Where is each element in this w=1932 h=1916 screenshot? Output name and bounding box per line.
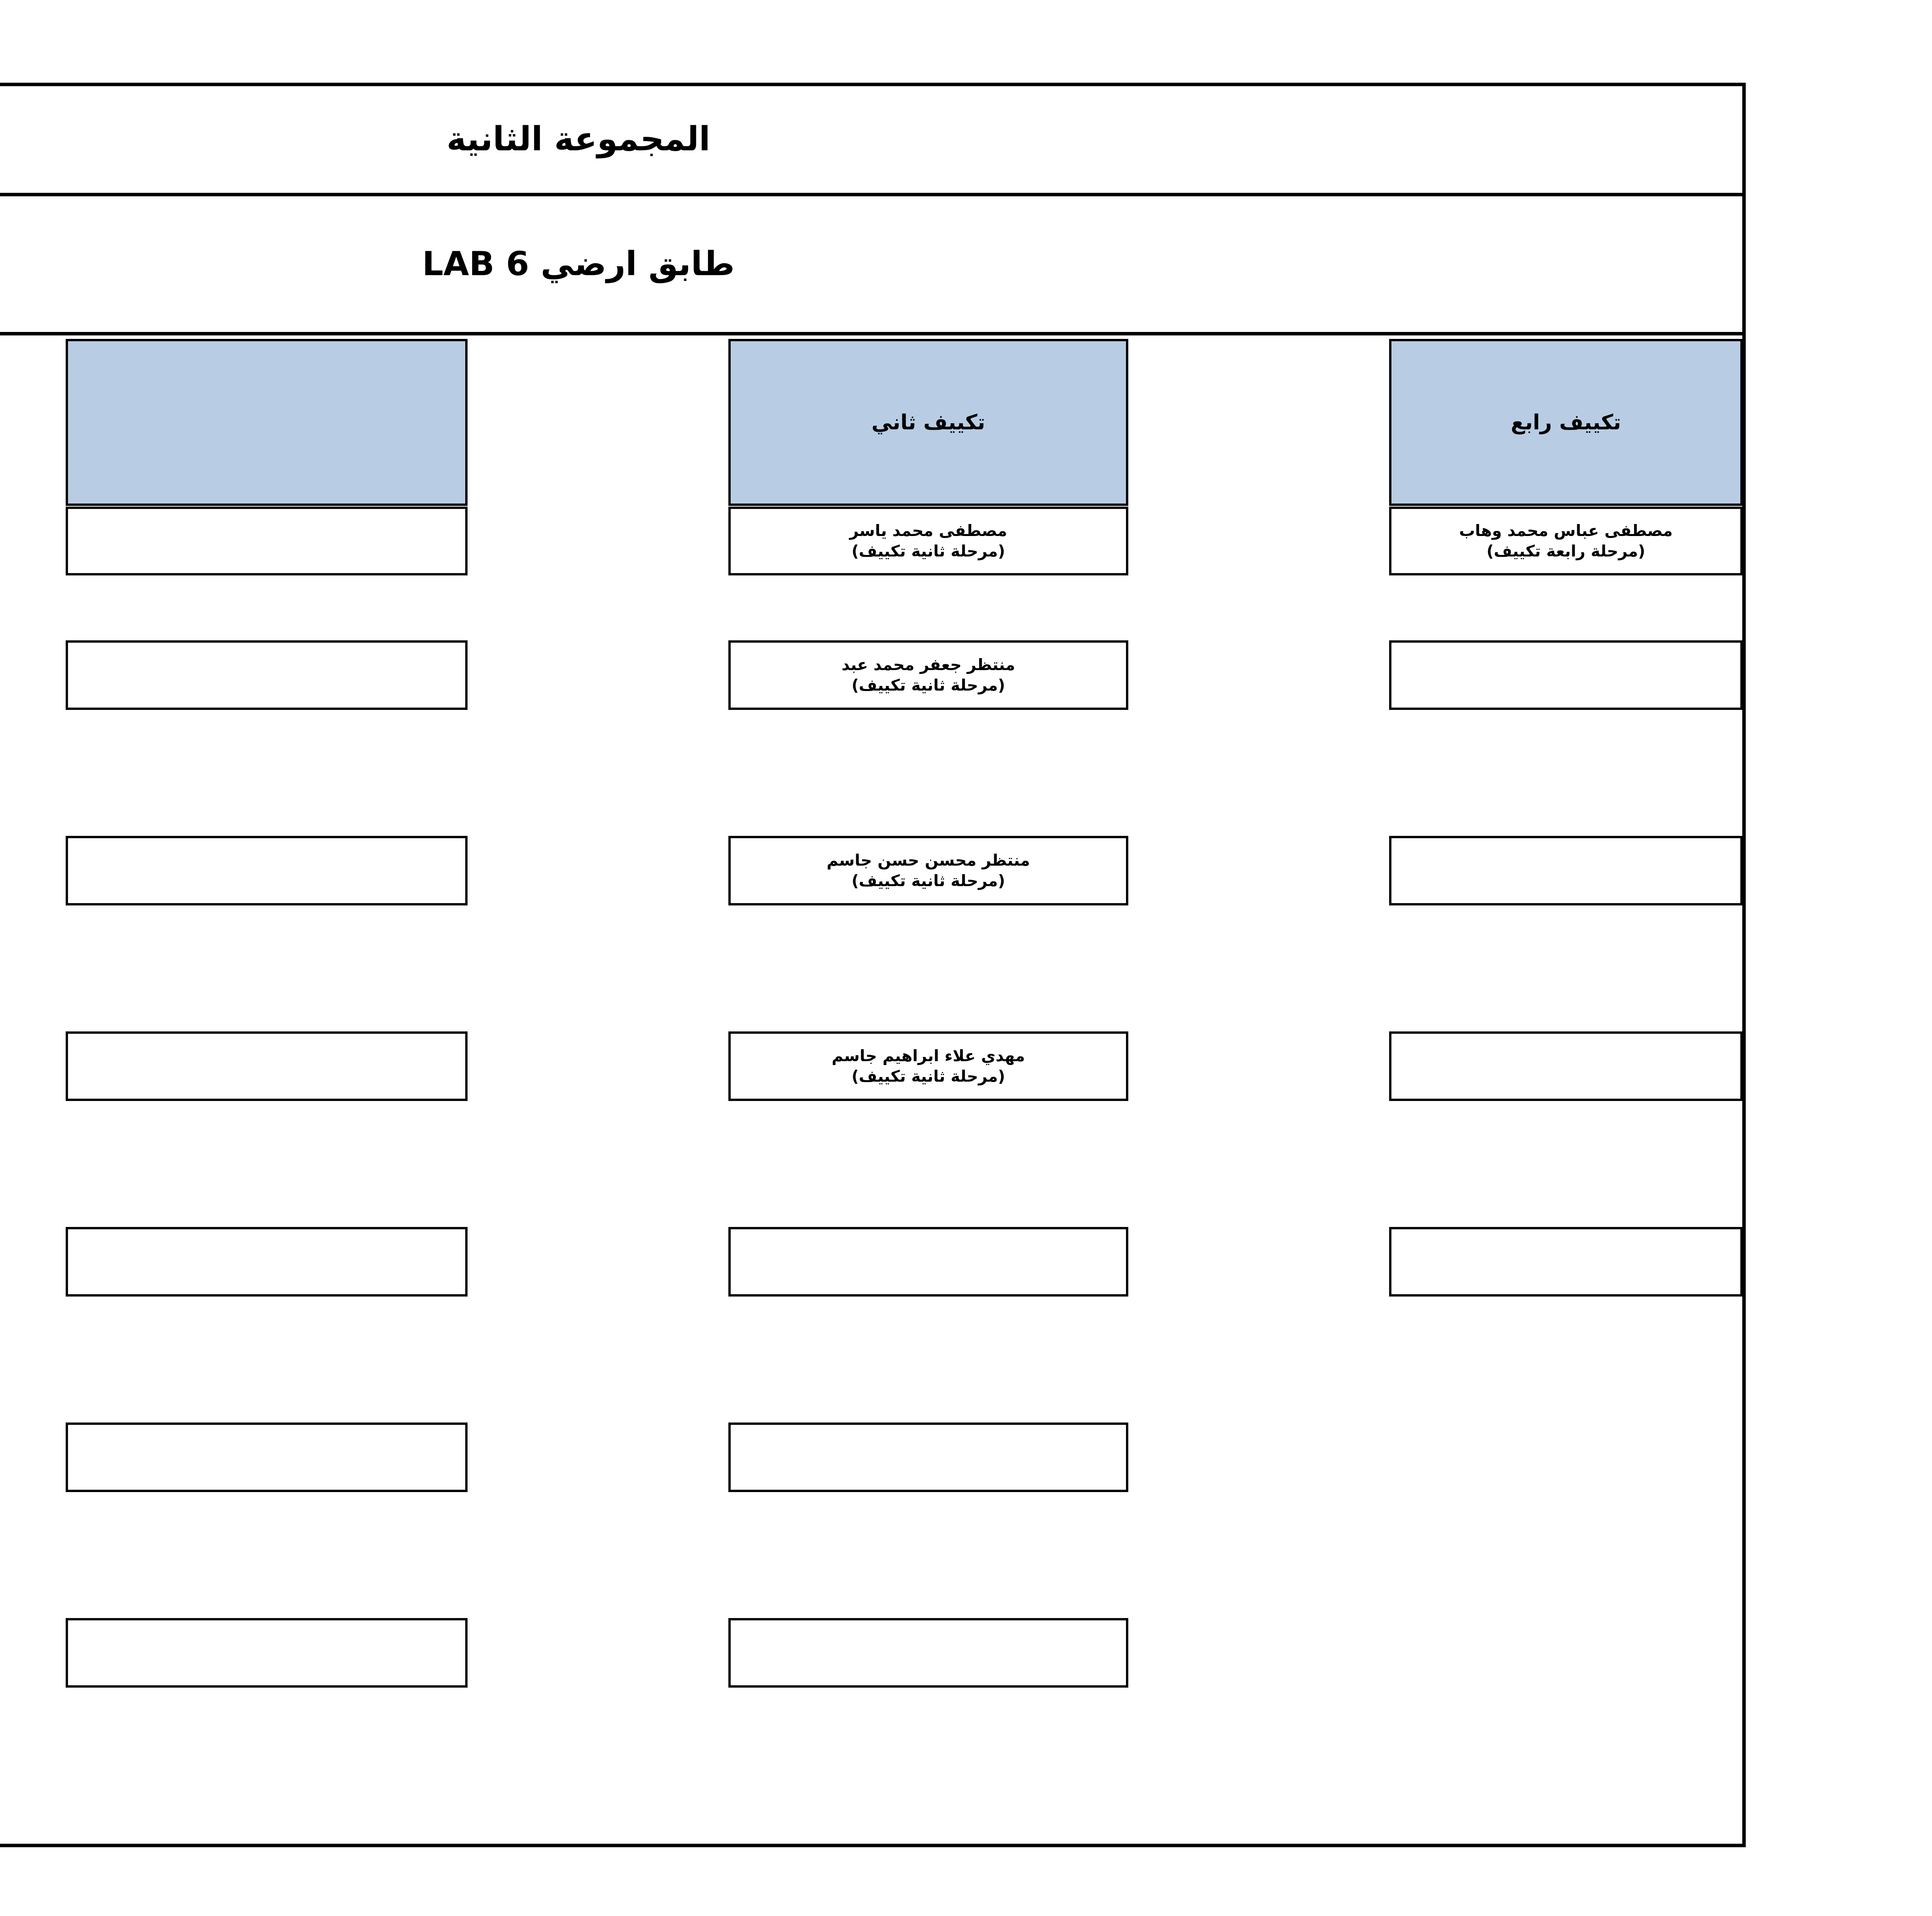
seat-column-3: تكييف ثانيمصطفى محمد ياسر(مرحلة ثانية تك…	[728, 335, 1128, 1844]
seat-cell-filled[interactable]: مهدي علاء ابراهيم جاسم(مرحلة ثانية تكييف…	[728, 1031, 1128, 1101]
student-name: مصطفى محمد ياسر	[850, 521, 1007, 541]
seat-cell-empty[interactable]	[1389, 640, 1743, 710]
student-name: منتظر جعفر محمد عبد	[842, 655, 1015, 675]
seat-cell-empty[interactable]	[1389, 836, 1743, 905]
document-title-row: المجموعة الثانية	[0, 86, 1742, 196]
column-header-cell[interactable]: تكييف رابع	[1389, 339, 1743, 506]
seat-cell-empty[interactable]	[728, 1423, 1128, 1492]
student-stage: (مرحلة ثانية تكييف)	[852, 871, 1005, 891]
student-name: مصطفى عباس محمد وهاب	[1459, 521, 1673, 541]
student-stage: (مرحلة ثانية تكييف)	[852, 1066, 1005, 1087]
seat-cell-empty[interactable]	[66, 836, 468, 905]
seat-cell-empty[interactable]	[1389, 1031, 1743, 1101]
seat-cell-empty[interactable]	[728, 1618, 1128, 1688]
seat-column-2	[66, 335, 468, 1844]
student-stage: (مرحلة ثانية تكييف)	[852, 541, 1005, 562]
seat-cell-empty[interactable]	[66, 507, 468, 575]
page-title: المجموعة الثانية	[447, 119, 711, 159]
seat-cell-empty[interactable]	[66, 1618, 468, 1688]
student-name: مهدي علاء ابراهيم جاسم	[832, 1046, 1025, 1066]
column-header-cell[interactable]	[66, 339, 468, 506]
column-header-label: تكييف ثاني	[871, 409, 985, 436]
seat-cell-empty[interactable]	[66, 1423, 468, 1492]
seat-cell-empty[interactable]	[66, 1031, 468, 1101]
seat-cell-empty[interactable]	[66, 640, 468, 710]
column-header-cell[interactable]: تكييف ثاني	[728, 339, 1128, 506]
seat-cell-filled[interactable]: منتظر محسن حسن جاسم(مرحلة ثانية تكييف)	[728, 836, 1128, 905]
seating-chart-sheet: المجموعة الثانية طابق ارضي LAB 6 تكييف ث…	[0, 83, 1746, 1847]
seat-cell-filled[interactable]: مصطفى محمد ياسر(مرحلة ثانية تكييف)	[728, 507, 1128, 575]
page-subtitle: طابق ارضي LAB 6	[422, 244, 735, 284]
document-subtitle-row: طابق ارضي LAB 6	[0, 196, 1742, 335]
seat-column-4: تكييف رابعمصطفى عباس محمد وهاب(مرحلة راب…	[1389, 335, 1743, 1844]
seat-cell-empty[interactable]	[66, 1227, 468, 1297]
seat-grid: تكييف ثانيمصطفى محمد ياسر(مرحلة ثانية تك…	[0, 335, 1742, 1844]
seat-cell-filled[interactable]: مصطفى عباس محمد وهاب(مرحلة رابعة تكييف)	[1389, 507, 1743, 575]
student-stage: (مرحلة ثانية تكييف)	[852, 675, 1005, 696]
seat-cell-empty[interactable]	[728, 1227, 1128, 1297]
student-name: منتظر محسن حسن جاسم	[827, 850, 1030, 871]
column-header-label: تكييف رابع	[1511, 409, 1621, 436]
student-stage: (مرحلة رابعة تكييف)	[1486, 541, 1645, 562]
seat-cell-empty[interactable]	[1389, 1227, 1743, 1297]
seat-cell-filled[interactable]: منتظر جعفر محمد عبد(مرحلة ثانية تكييف)	[728, 640, 1128, 710]
